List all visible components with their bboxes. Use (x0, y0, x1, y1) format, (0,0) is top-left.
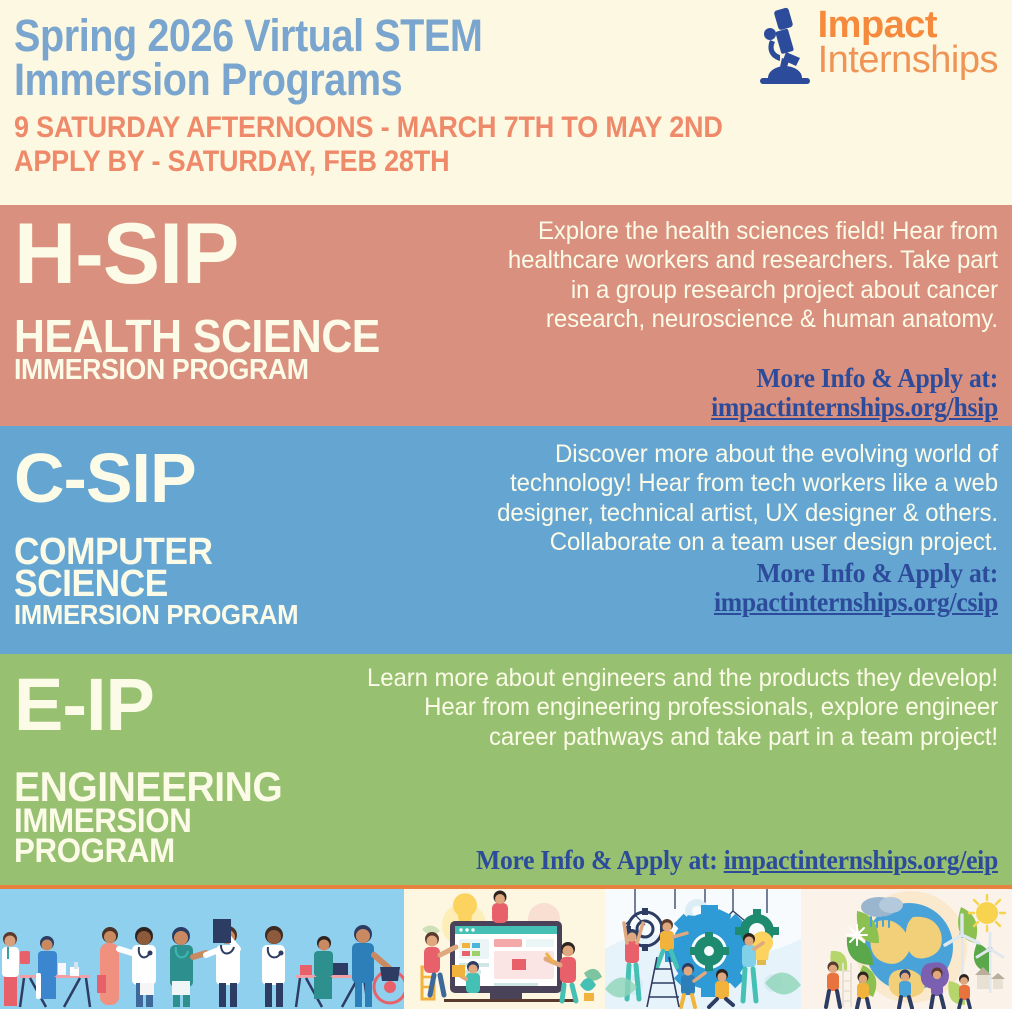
apply-link[interactable]: impactinternships.org/csip (458, 588, 998, 617)
apply-cta-eip: More Info & Apply at: impactinternships.… (373, 846, 998, 885)
microscope-icon (756, 6, 814, 86)
program-description: Learn more about engineers and the produ… (366, 662, 998, 752)
logo-impact-text: Impact (818, 8, 998, 43)
engineering-gears-illustration (605, 889, 801, 1009)
program-identity-hsip: H-SIP HEALTH SCIENCE IMMERSION PROGRAM (0, 205, 455, 426)
apply-label: More Info & Apply at: (458, 559, 998, 588)
logo-wordmark: Impact Internships (818, 6, 998, 78)
program-dates: 9 SATURDAY AFTERNOONS - MARCH 7TH TO MAY… (14, 111, 959, 145)
poster-header: Spring 2026 Virtual STEM Immersion Progr… (0, 0, 1012, 205)
program-identity-csip: C-SIP COMPUTER SCIENCE IMMERSION PROGRAM (0, 426, 420, 654)
program-acronym: C-SIP (14, 434, 420, 510)
apply-label: More Info & Apply at: (492, 364, 998, 393)
page-title: Spring 2026 Virtual STEM Immersion Progr… (14, 10, 683, 101)
program-subtitle: IMMERSION PROGRAM (14, 356, 420, 384)
program-band-csip: C-SIP COMPUTER SCIENCE IMMERSION PROGRAM… (0, 426, 1012, 654)
global-sustainability-illustration (801, 889, 1012, 1009)
program-band-hsip: H-SIP HEALTH SCIENCE IMMERSION PROGRAM E… (0, 205, 1012, 426)
program-acronym: H-SIP (14, 213, 455, 293)
apply-link[interactable]: impactinternships.org/hsip (492, 393, 998, 422)
apply-cta-csip: More Info & Apply at: impactinternships.… (458, 559, 998, 617)
apply-cta-hsip: More Info & Apply at: impactinternships.… (492, 364, 998, 426)
logo-internships-text: Internships (818, 43, 998, 78)
program-subtitle: IMMERSION PROGRAM (14, 805, 305, 867)
program-description: Discover more about the evolving world o… (453, 434, 998, 557)
program-name: HEALTH SCIENCE (14, 293, 424, 356)
header-subtitle-block: 9 SATURDAY AFTERNOONS - MARCH 7TH TO MAY… (14, 101, 959, 178)
program-name: ENGINEERING (14, 737, 308, 805)
program-description: Explore the health sciences field! Hear … (486, 213, 998, 334)
program-details-csip: Discover more about the evolving world o… (420, 426, 1012, 654)
application-deadline: APPLY BY - SATURDAY, FEB 28TH (14, 145, 959, 179)
program-name: COMPUTER SCIENCE (14, 510, 392, 601)
photo-strip (0, 889, 1012, 1009)
program-details-eip: Learn more about engineers and the produ… (330, 654, 1012, 885)
program-details-hsip: Explore the health sciences field! Hear … (455, 205, 1012, 426)
apply-link[interactable]: impactinternships.org/eip (724, 845, 998, 875)
healthcare-team-illustration (0, 889, 404, 1009)
program-identity-eip: E-IP ENGINEERING IMMERSION PROGRAM (0, 654, 330, 885)
program-acronym: E-IP (14, 662, 330, 737)
program-subtitle: IMMERSION PROGRAM (14, 600, 388, 628)
apply-label: More Info & Apply at: (476, 845, 717, 875)
program-band-eip: E-IP ENGINEERING IMMERSION PROGRAM Learn… (0, 654, 1012, 885)
flyer-poster: Spring 2026 Virtual STEM Immersion Progr… (0, 0, 1012, 1009)
brand-logo[interactable]: Impact Internships (756, 6, 998, 86)
web-design-team-illustration (404, 889, 605, 1009)
